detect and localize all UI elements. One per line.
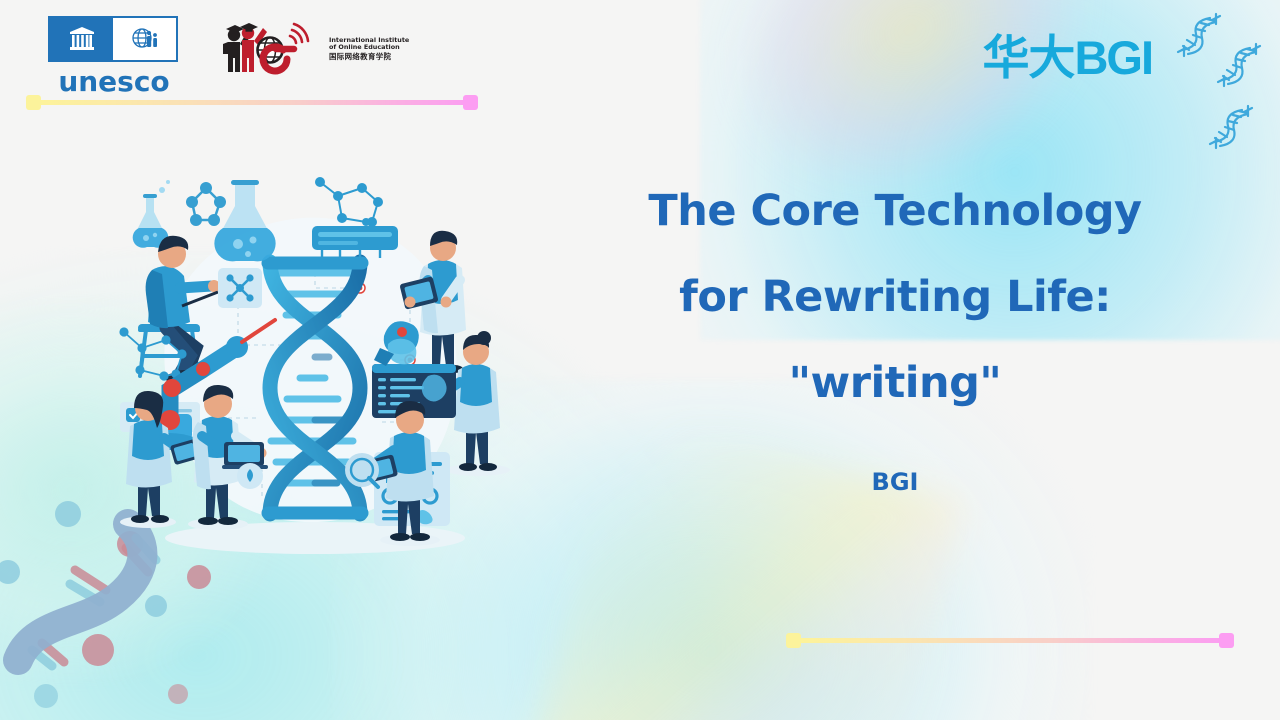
greek-temple-icon bbox=[50, 18, 113, 60]
bgi-logo-latin: BGI bbox=[1074, 31, 1152, 84]
title-line-3: "writing" bbox=[789, 358, 1002, 408]
presentation-slide: unesco bbox=[0, 0, 1280, 720]
rule-cap-start bbox=[26, 95, 41, 110]
iioe-wordmark: International Institute of Online Educat… bbox=[329, 37, 409, 61]
page-title: The Core Technology for Rewriting Life: … bbox=[600, 168, 1190, 426]
unesco-logo: unesco bbox=[48, 16, 180, 96]
iioe-line-cn: 国际网络教育学院 bbox=[329, 53, 409, 61]
partner-logos: unesco bbox=[48, 16, 409, 96]
rule-bar bbox=[801, 638, 1219, 643]
globe-people-icon bbox=[113, 18, 176, 60]
dna-helix-icon bbox=[1204, 100, 1266, 152]
rule-cap-end bbox=[1219, 633, 1234, 648]
dna-research-team-illustration bbox=[110, 170, 520, 570]
bgi-logo: 华大BGI bbox=[982, 34, 1152, 82]
unesco-wordmark: unesco bbox=[48, 68, 180, 96]
title-line-2: for Rewriting Life: bbox=[679, 272, 1111, 322]
subtitle: BGI bbox=[600, 468, 1190, 496]
rule-bar bbox=[41, 100, 463, 105]
iioe-logo: International Institute of Online Educat… bbox=[214, 20, 409, 78]
iioe-line-2: of Online Education bbox=[329, 44, 409, 51]
decorative-rule-bottom bbox=[786, 638, 1234, 643]
title-line-1: The Core Technology bbox=[648, 186, 1141, 236]
rule-cap-end bbox=[463, 95, 478, 110]
rule-cap-start bbox=[786, 633, 801, 648]
iioe-graduate-globe-icon bbox=[214, 20, 322, 78]
dna-helix-icon bbox=[1212, 38, 1274, 90]
unesco-emblem bbox=[48, 16, 178, 62]
decorative-rule-top bbox=[26, 100, 478, 105]
title-block: The Core Technology for Rewriting Life: … bbox=[600, 168, 1190, 496]
bgi-logo-cn: 华大 bbox=[982, 31, 1074, 86]
